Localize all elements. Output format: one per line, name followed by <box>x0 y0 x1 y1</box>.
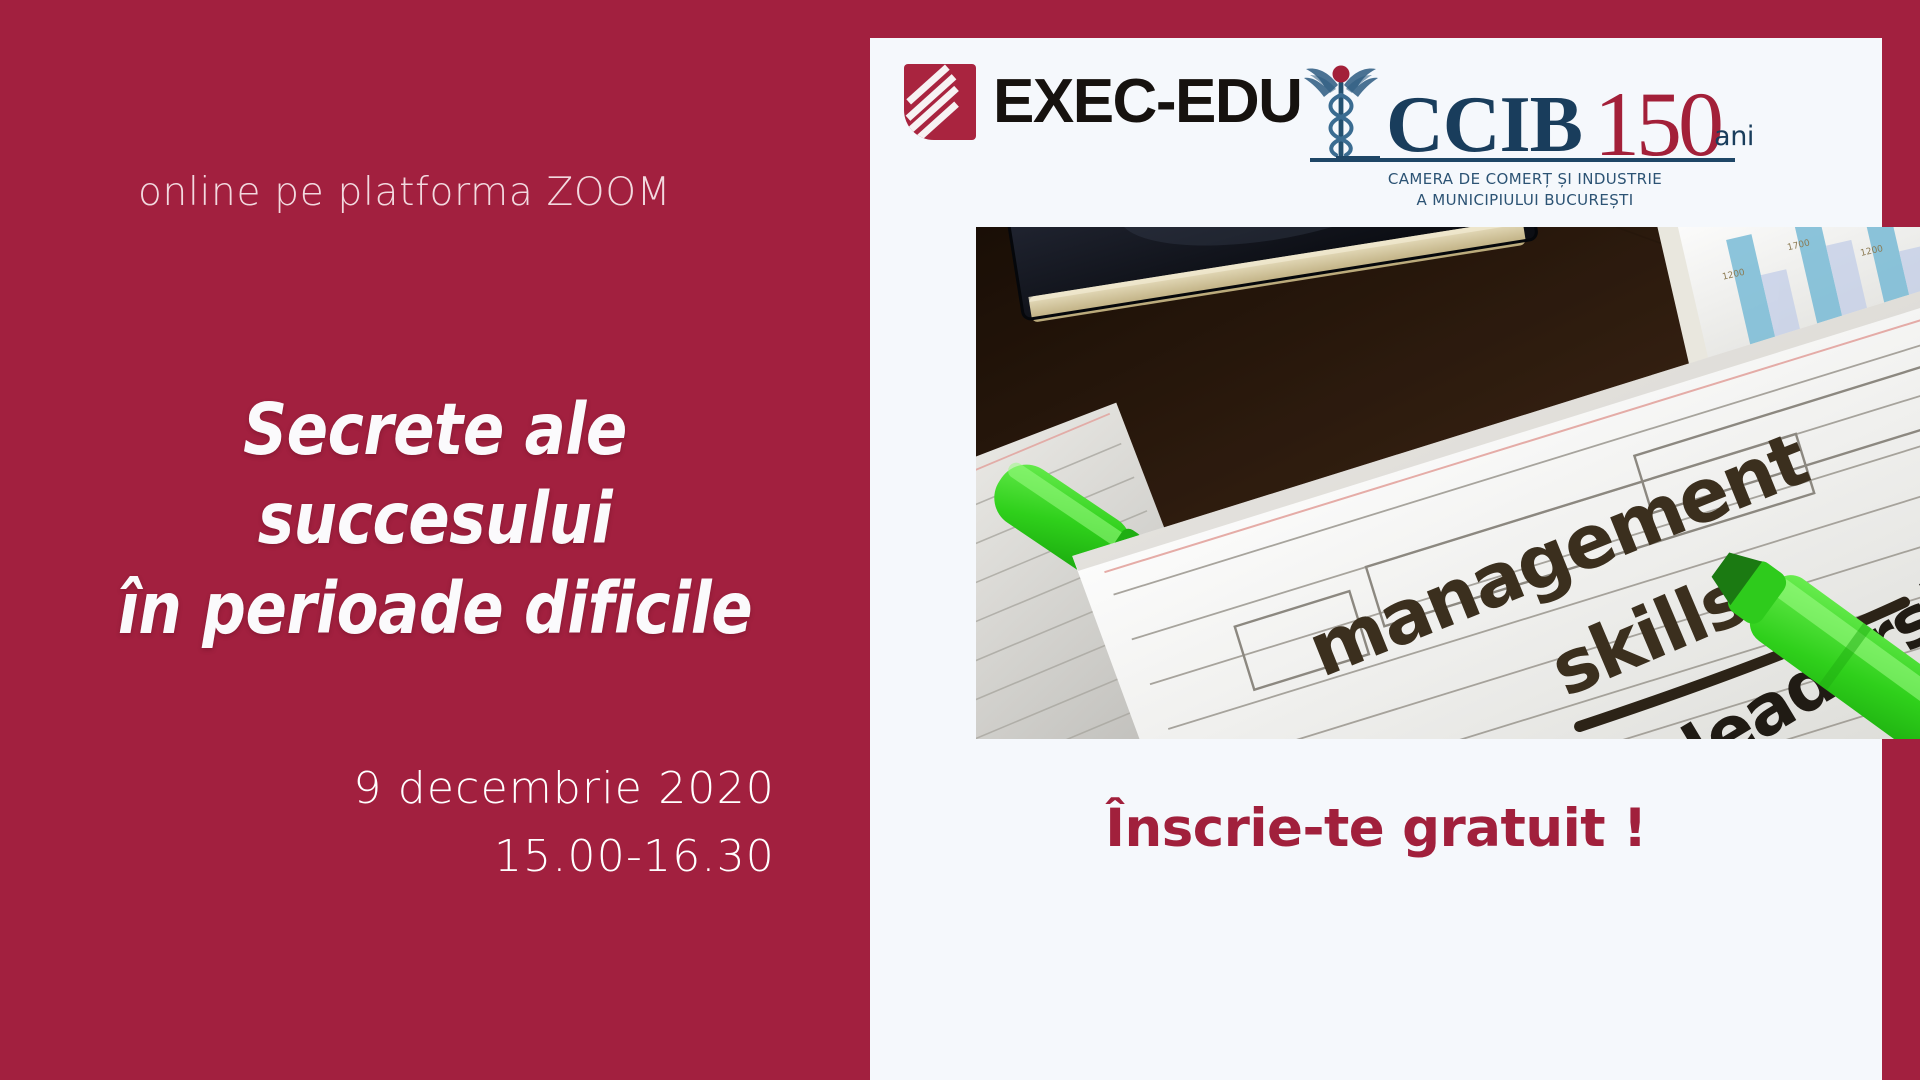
title-line-1: Secrete ale succesului <box>61 385 809 564</box>
promo-poster: online pe platforma ZOOM Secrete ale suc… <box>0 0 1920 1080</box>
anniversary-number: 150 <box>1594 85 1720 164</box>
anniversary-unit: ani <box>1714 121 1754 152</box>
ccib-wordmark: CCIB <box>1386 86 1582 164</box>
anniversary-badge: 150 ani <box>1594 85 1754 164</box>
right-panel: EXEC-EDU <box>870 38 1882 1080</box>
title-line-2: în perioade dificile <box>61 564 809 653</box>
register-cta[interactable]: Înscrie-te gratuit ! <box>870 798 1882 859</box>
left-panel: online pe platforma ZOOM Secrete ale suc… <box>0 0 870 1080</box>
event-time: 15.00-16.30 <box>0 823 775 891</box>
ccib-subtitle-line-2: A MUNICIPIULUI BUCUREȘTI <box>1310 190 1740 211</box>
event-date: 9 decembrie 2020 <box>0 755 775 823</box>
ccib-logo: CCIB 150 ani CAMERA DE COMERȚ ȘI INDUSTR… <box>1302 54 1862 212</box>
ccib-subtitle: CAMERA DE COMERȚ ȘI INDUSTRIE A MUNICIPI… <box>1310 169 1740 212</box>
execedu-wordmark: EXEC-EDU <box>993 71 1301 133</box>
logo-strip: EXEC-EDU <box>870 38 1882 243</box>
execedu-shield-icon <box>904 64 976 140</box>
hero-photo: 1200 1700 1200 1200 <box>976 227 1920 739</box>
page-title: Secrete ale succesului în perioade dific… <box>61 385 809 653</box>
execedu-logo: EXEC-EDU <box>904 64 1301 140</box>
platform-label: online pe platforma ZOOM <box>138 170 671 215</box>
event-schedule: 9 decembrie 2020 15.00-16.30 <box>0 755 870 891</box>
caduceus-icon <box>1302 59 1380 164</box>
ccib-lockup: CCIB 150 ani <box>1302 54 1862 164</box>
